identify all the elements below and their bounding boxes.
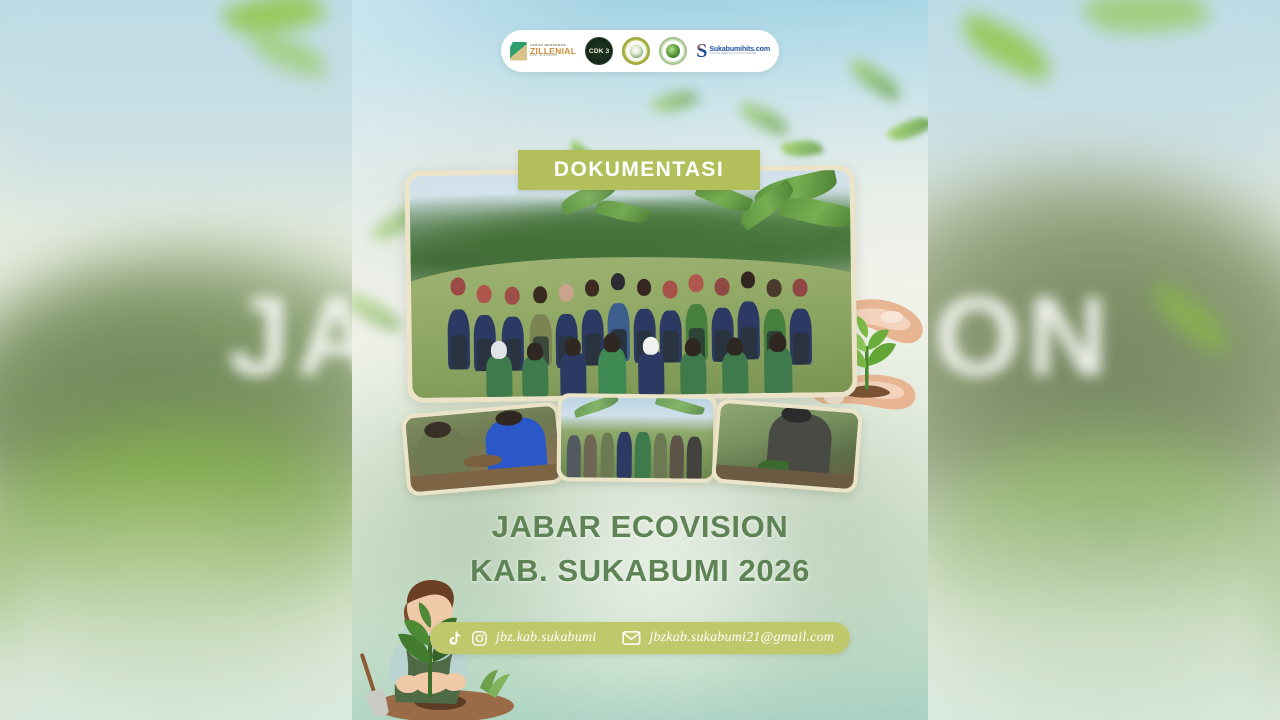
instagram-icon[interactable] bbox=[471, 630, 488, 647]
sukabumihits-sub: PORTAL BERITA KOTA SUKABUMI bbox=[709, 53, 770, 56]
zillenial-mark-icon bbox=[510, 42, 527, 61]
cdk3-logo: CDK 3 bbox=[585, 37, 613, 65]
photo-planting-right-frame bbox=[711, 398, 863, 493]
tiktok-icon[interactable] bbox=[446, 630, 463, 647]
dokumentasi-label: DOKUMENTASI bbox=[554, 158, 724, 182]
dokumentasi-banner: DOKUMENTASI bbox=[518, 150, 760, 190]
poster: JABAR BERGERAK ZILLENIAL KAB. SUKABUMI C… bbox=[352, 0, 928, 720]
photo-planting-left-frame bbox=[401, 401, 566, 496]
email-address[interactable]: jbzkab.sukabumi21@gmail.com bbox=[649, 630, 834, 646]
photo-group-center-frame bbox=[557, 393, 718, 483]
backdrop-ghost-text-right: ON bbox=[934, 272, 1114, 401]
group-photo-main bbox=[409, 170, 852, 398]
green-emblem-logo bbox=[659, 37, 687, 65]
photo-group-center bbox=[561, 397, 714, 479]
photo-planting-right bbox=[715, 403, 859, 490]
sukabumihits-logo: S Sukabumihits.com PORTAL BERITA KOTA SU… bbox=[696, 41, 770, 61]
zillenial-sub: KAB. SUKABUMI bbox=[530, 55, 576, 58]
contact-bar[interactable]: jbz.kab.sukabumi jbzkab.sukabumi21@gmail… bbox=[430, 622, 850, 654]
title-line-2: KAB. SUKABUMI 2026 bbox=[352, 549, 928, 593]
partner-logo-bar: JABAR BERGERAK ZILLENIAL KAB. SUKABUMI C… bbox=[501, 30, 779, 72]
photo-planting-left bbox=[405, 406, 561, 493]
cdk3-label: CDK 3 bbox=[589, 48, 610, 55]
group-photo-main-frame bbox=[404, 165, 857, 403]
sukabumihits-s-mark-icon: S bbox=[696, 41, 707, 61]
gold-seal-logo bbox=[622, 37, 650, 65]
poster-title: JABAR ECOVISION KAB. SUKABUMI 2026 bbox=[352, 505, 928, 593]
title-line-1: JABAR ECOVISION bbox=[352, 505, 928, 549]
screenshot-stage: JA ON JABAR BERGERAK ZILLENIAL bbox=[0, 0, 1280, 720]
zillenial-logo: JABAR BERGERAK ZILLENIAL KAB. SUKABUMI bbox=[510, 42, 576, 61]
envelope-icon[interactable] bbox=[622, 630, 641, 646]
instagram-handle[interactable]: jbz.kab.sukabumi bbox=[496, 630, 596, 646]
